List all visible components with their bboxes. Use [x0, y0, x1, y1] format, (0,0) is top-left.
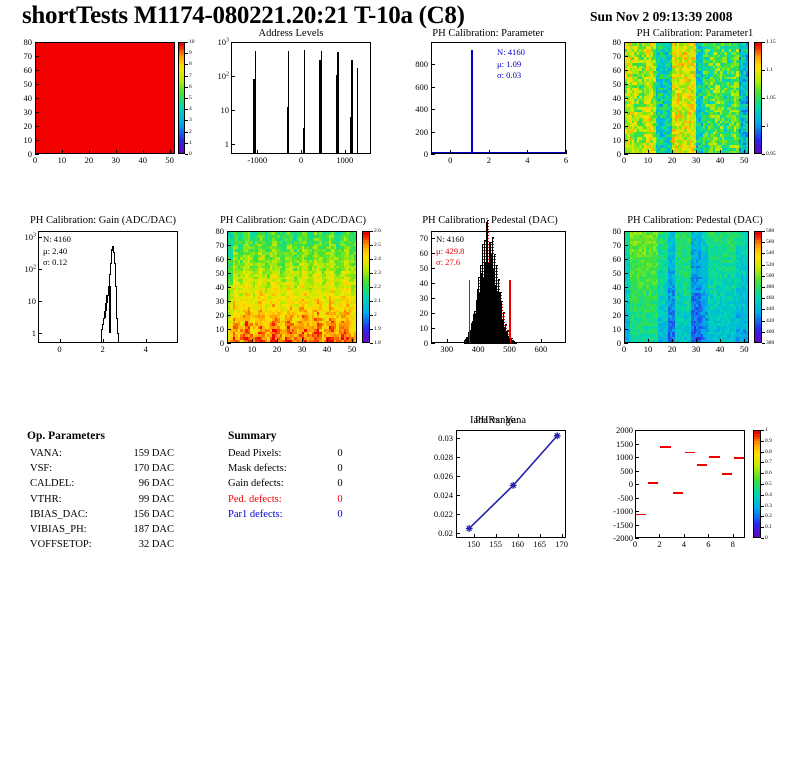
plot-stroke: [321, 51, 322, 154]
y-tick: [431, 313, 435, 314]
color-bar-tick: [185, 143, 188, 144]
y-tick-label: 800: [401, 60, 428, 69]
y-tick-label: 400: [401, 105, 428, 114]
x-tick: [302, 339, 303, 343]
y-tick-label: 50: [5, 80, 32, 89]
x-tick: [527, 150, 528, 154]
y-tick: [227, 301, 231, 302]
y-tick-label: 60: [5, 66, 32, 75]
panel-gain-map[interactable]: PH Calibration: Gain (ADC/DAC)0102030405…: [203, 215, 393, 355]
x-tick: [146, 339, 147, 343]
y-tick: [431, 343, 435, 344]
color-bar-label: 1.1: [766, 67, 773, 73]
x-tick-label: -1000: [247, 156, 267, 165]
color-bar-label: 2.6: [374, 228, 381, 234]
y-tick-label: 0: [197, 339, 224, 348]
stats-line: N: 4160: [436, 234, 464, 246]
y-tick-label: 10: [11, 297, 36, 306]
plot-stroke: [255, 51, 256, 154]
x-tick-label: 30: [692, 156, 701, 165]
x-tick: [672, 150, 673, 154]
x-tick-label: 2: [487, 156, 491, 165]
x-tick: [143, 150, 144, 154]
heatmap-canvas: [625, 43, 748, 153]
x-tick-label: 4: [144, 345, 148, 354]
y-tick: [227, 315, 231, 316]
y-tick-label: 40: [594, 94, 621, 103]
stats-box: N: 4160μ: 2.40σ: 0.12: [43, 234, 71, 269]
color-bar-segment: [179, 43, 184, 46]
y-tick: [227, 273, 231, 274]
x-tick: [327, 339, 328, 343]
x-tick-label: 1000: [336, 156, 353, 165]
y-tick: [227, 245, 231, 246]
color-bar-segment: [363, 232, 369, 235]
y-tick: [227, 231, 231, 232]
x-tick: [257, 150, 258, 154]
color-bar-tick: [370, 301, 373, 302]
y-tick-label: 60: [197, 255, 224, 264]
y-tick: [624, 98, 628, 99]
y-tick: [35, 70, 39, 71]
x-tick: [170, 150, 171, 154]
x-tick-label: 30: [112, 156, 121, 165]
plot-stroke: [114, 252, 115, 263]
y-tick-label: 50: [197, 269, 224, 278]
color-bar-tick: [185, 76, 188, 77]
x-tick-label: 2: [100, 345, 104, 354]
panel-ph-parameter[interactable]: PH Calibration: Parameter024602004006008…: [398, 28, 588, 163]
color-bar-tick: [185, 42, 188, 43]
y-tick: [35, 140, 39, 141]
panel-gain-hist[interactable]: PH Calibration: Gain (ADC/DAC)0241101021…: [8, 215, 198, 355]
y-tick-label: 50: [594, 80, 621, 89]
x-tick-label: 50: [348, 345, 357, 354]
color-bar-label: 3: [189, 117, 192, 123]
color-bar-tick: [185, 154, 188, 155]
x-tick: [489, 150, 490, 154]
color-bar-label: 1.9: [374, 326, 381, 332]
x-tick: [696, 150, 697, 154]
y-tick-label: 30: [197, 297, 224, 306]
heatmap-cell: [354, 232, 356, 235]
panel-ph-parameter1-map[interactable]: PH Calibration: Parameter101020304050010…: [600, 28, 796, 163]
x-tick-label: 50: [165, 156, 174, 165]
x-tick-label: 0: [448, 156, 452, 165]
heatmap-canvas: [36, 43, 174, 153]
y-tick: [431, 64, 435, 65]
y-tick: [624, 126, 628, 127]
y-tick-label: 10: [401, 324, 428, 333]
color-bar-label: 10: [189, 39, 195, 45]
color-bar-label: 6: [189, 84, 192, 90]
x-tick-label: 0: [33, 156, 37, 165]
color-bar-tick: [370, 245, 373, 246]
y-tick: [35, 56, 39, 57]
y-tick: [431, 132, 435, 133]
y-tick: [231, 144, 235, 145]
x-tick: [301, 150, 302, 154]
x-tick: [352, 339, 353, 343]
x-tick-label: 0: [57, 345, 61, 354]
plot-stroke: [106, 295, 107, 303]
color-bar-label: 1.05: [766, 95, 776, 101]
y-tick: [624, 42, 628, 43]
color-bar-segment: [755, 43, 761, 46]
color-bar-label: 1: [189, 140, 192, 146]
color-bar-label: 8: [189, 61, 192, 67]
y-tick-label: 70: [594, 52, 621, 61]
color-bar-tick: [762, 126, 765, 127]
y-tick: [431, 268, 435, 269]
plot-stroke: [509, 280, 510, 343]
x-tick: [103, 339, 104, 343]
y-tick: [431, 328, 435, 329]
stats-line: N: 4160: [43, 234, 71, 246]
x-tick-label: 500: [503, 345, 516, 354]
color-bar-tick: [370, 343, 373, 344]
color-bar-tick: [762, 70, 765, 71]
y-tick-label: 40: [401, 279, 428, 288]
y-tick: [35, 154, 39, 155]
heatmap-cell: [746, 43, 748, 46]
color-bar-tick: [185, 64, 188, 65]
x-tick-label: 0: [299, 156, 303, 165]
color-bar-tick: [370, 315, 373, 316]
y-tick: [231, 110, 235, 111]
x-tick-label: 0: [622, 156, 626, 165]
y-tick: [624, 112, 628, 113]
color-bar-label: 1: [766, 123, 769, 129]
stats-line: μ: 2.40: [43, 246, 71, 258]
color-bar-tick: [370, 259, 373, 260]
y-tick-label: 10: [5, 136, 32, 145]
x-tick-label: 10: [644, 156, 653, 165]
color-bar-label: 4: [189, 106, 192, 112]
y-tick-label: 30: [5, 108, 32, 117]
color-bar-tick: [762, 42, 765, 43]
plot-stroke: [432, 152, 472, 153]
x-tick-label: 600: [535, 345, 548, 354]
plot-stroke: [116, 286, 117, 318]
panel-pedestal-hist[interactable]: PH Calibration: Pedestal (DAC)3004005006…: [398, 215, 588, 355]
plot-stroke: [102, 324, 103, 329]
x-tick-label: 40: [323, 345, 332, 354]
x-tick: [648, 150, 649, 154]
color-bar-tick: [185, 132, 188, 133]
stats-line: μ: 429.8: [436, 246, 464, 258]
stats-line: N: 4160: [497, 47, 525, 59]
y-tick-label: 30: [594, 108, 621, 117]
stats-line: σ: 0.03: [497, 70, 525, 82]
color-bar-tick: [185, 120, 188, 121]
y-tick-label: 60: [594, 66, 621, 75]
y-tick-label: 20: [401, 309, 428, 318]
y-tick: [431, 283, 435, 284]
y-tick: [227, 287, 231, 288]
x-tick-label: 40: [138, 156, 147, 165]
plot-stroke: [288, 51, 289, 154]
plot-stroke: [117, 318, 118, 333]
color-bar-tick: [185, 98, 188, 99]
x-tick-label: 400: [472, 345, 485, 354]
plot-stroke: [111, 249, 112, 263]
y-tick: [431, 238, 435, 239]
x-tick: [541, 339, 542, 343]
color-bar: [754, 42, 762, 154]
panel-pixel-map[interactable]: Pixel Map0102030405001020304050607080012…: [8, 28, 198, 163]
stats-box: N: 4160μ: 429.8σ: 27.6: [436, 234, 464, 269]
plot-stroke: [352, 123, 353, 154]
color-bar-tick: [370, 287, 373, 288]
color-bar-tick: [370, 231, 373, 232]
y-tick: [38, 237, 42, 238]
plot-stroke: [105, 303, 106, 311]
y-tick: [38, 301, 42, 302]
y-tick: [227, 329, 231, 330]
color-bar-tick: [185, 87, 188, 88]
x-tick-label: 4: [525, 156, 529, 165]
color-bar: [362, 231, 370, 343]
y-tick-label: 80: [594, 38, 621, 47]
y-tick-label: 1: [11, 329, 36, 338]
color-bar-tick: [370, 273, 373, 274]
plot-stroke: [103, 318, 104, 324]
y-tick: [431, 253, 435, 254]
x-tick: [744, 150, 745, 154]
y-tick-label: 10: [594, 136, 621, 145]
color-bar-label: 2: [189, 129, 192, 135]
y-tick-label: 102: [11, 264, 36, 273]
y-tick-label: 40: [5, 94, 32, 103]
plot-stroke: [337, 52, 338, 154]
y-tick: [624, 70, 628, 71]
y-tick: [431, 154, 435, 155]
y-tick-label: 0: [401, 339, 428, 348]
x-tick-label: 20: [273, 345, 282, 354]
plot-stroke: [118, 333, 119, 343]
panel-title: PH Calibration: Parameter1: [495, 28, 796, 39]
y-tick: [35, 98, 39, 99]
y-tick: [624, 56, 628, 57]
color-bar-tick: [185, 109, 188, 110]
x-tick: [345, 150, 346, 154]
heatmap-canvas: [228, 232, 356, 342]
y-tick-label: 80: [197, 227, 224, 236]
y-tick-label: 80: [5, 38, 32, 47]
color-bar-label: 5: [189, 95, 192, 101]
color-bar-label: 2: [374, 312, 377, 318]
y-tick: [431, 298, 435, 299]
color-bar-tick: [762, 98, 765, 99]
x-tick-label: 40: [716, 156, 725, 165]
y-tick-label: 103: [11, 232, 36, 241]
y-tick: [624, 84, 628, 85]
y-tick-label: 10: [197, 325, 224, 334]
y-tick-label: 10: [205, 106, 229, 115]
panel-title: PH Calibration: Pedestal (DAC): [495, 215, 796, 226]
y-tick-label: 0: [594, 150, 621, 159]
y-tick-label: 200: [401, 127, 428, 136]
color-bar-label: 0: [189, 151, 192, 157]
x-tick-label: 30: [298, 345, 307, 354]
plot-stroke: [432, 342, 565, 343]
x-tick: [478, 339, 479, 343]
y-tick: [35, 126, 39, 127]
x-tick-label: 300: [440, 345, 453, 354]
plot-stroke: [109, 286, 111, 334]
color-bar-label: 2.2: [374, 284, 381, 290]
plot-stroke: [115, 263, 116, 286]
stats-box: N: 4160μ: 1.09σ: 0.03: [497, 47, 525, 82]
color-bar-label: 1.8: [374, 340, 381, 346]
x-tick-label: 20: [668, 156, 677, 165]
x-tick: [720, 150, 721, 154]
x-tick: [116, 150, 117, 154]
x-tick: [447, 339, 448, 343]
plot-stroke: [104, 311, 105, 318]
color-bar-label: 2.4: [374, 256, 381, 262]
color-bar-tick: [762, 154, 765, 155]
y-tick: [624, 154, 628, 155]
panel-address-levels[interactable]: Address Levels-100001000110102103: [203, 28, 393, 163]
x-tick: [566, 150, 567, 154]
color-bar-label: 9: [189, 50, 192, 56]
stats-line: μ: 1.09: [497, 59, 525, 71]
y-tick: [227, 259, 231, 260]
x-tick: [62, 150, 63, 154]
y-tick: [624, 140, 628, 141]
y-tick: [35, 42, 39, 43]
y-tick: [231, 76, 235, 77]
x-tick-label: 6: [564, 156, 568, 165]
x-tick-label: 50: [740, 156, 749, 165]
x-tick: [509, 339, 510, 343]
color-bar-label: 0.95: [766, 151, 776, 157]
y-tick-label: 0: [5, 150, 32, 159]
plot-stroke: [357, 68, 358, 154]
y-tick-label: 103: [205, 37, 229, 46]
plot-stroke: [304, 50, 305, 154]
color-bar-label: 2.5: [374, 242, 381, 248]
y-tick-label: 70: [401, 234, 428, 243]
y-tick-label: 30: [401, 294, 428, 303]
y-tick-label: 40: [197, 283, 224, 292]
stats-line: σ: 27.6: [436, 257, 464, 269]
plot-stroke: [110, 263, 111, 274]
x-tick: [450, 150, 451, 154]
y-tick-label: 20: [197, 311, 224, 320]
y-tick-label: 102: [205, 71, 229, 80]
y-tick: [38, 333, 42, 334]
y-tick-label: 0: [401, 150, 428, 159]
x-tick-label: 0: [225, 345, 229, 354]
color-bar-label: 2.3: [374, 270, 381, 276]
y-tick-label: 20: [5, 122, 32, 131]
page-title: shortTests M1174-080221.20:21 T-10a (C8): [22, 2, 465, 30]
y-tick: [35, 84, 39, 85]
color-bar-tick: [185, 53, 188, 54]
y-tick: [431, 109, 435, 110]
color-bar-tick: [370, 329, 373, 330]
color-bar-label: 2.1: [374, 298, 381, 304]
stats-line: σ: 0.12: [43, 257, 71, 269]
x-tick-label: 20: [85, 156, 94, 165]
x-tick-label: 10: [248, 345, 257, 354]
report-page: shortTests M1174-080221.20:21 T-10a (C8)…: [0, 0, 796, 772]
y-tick-label: 60: [401, 249, 428, 258]
y-tick-label: 70: [5, 52, 32, 61]
run-timestamp: Sun Nov 2 09:13:39 2008: [590, 9, 733, 25]
color-bar-label: 1.15: [766, 39, 776, 45]
x-tick: [60, 339, 61, 343]
y-tick: [38, 269, 42, 270]
x-tick: [89, 150, 90, 154]
y-tick-label: 600: [401, 83, 428, 92]
panel-pedestal-map[interactable]: PH Calibration: Pedestal (DAC)0102030405…: [600, 215, 796, 355]
y-tick: [35, 112, 39, 113]
y-tick-label: 70: [197, 241, 224, 250]
plot-stroke: [472, 96, 473, 154]
x-tick-label: 10: [58, 156, 67, 165]
y-tick: [431, 87, 435, 88]
plot-stroke: [109, 274, 110, 286]
x-tick: [277, 339, 278, 343]
y-tick-label: 20: [594, 122, 621, 131]
y-tick: [231, 42, 235, 43]
plot-stroke: [469, 280, 470, 343]
color-bar-label: 7: [189, 73, 192, 79]
plot-stroke: [471, 93, 473, 94]
x-tick: [252, 339, 253, 343]
y-tick-label: 1: [205, 140, 229, 149]
heatmap-canvas: [625, 232, 748, 342]
y-tick: [227, 343, 231, 344]
y-tick-label: 50: [401, 264, 428, 273]
color-bar: [178, 42, 185, 154]
